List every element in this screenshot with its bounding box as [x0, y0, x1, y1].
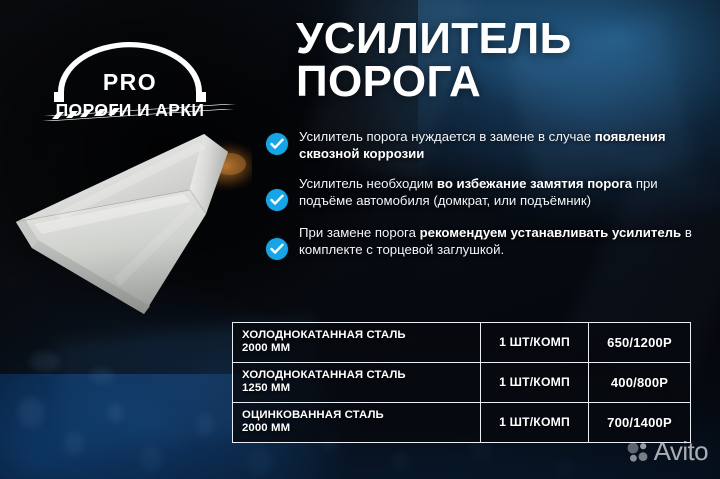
table-cell-material: ОЦИНКОВАННАЯ СТАЛЬ 2000 ММ	[233, 402, 481, 442]
material-name: ОЦИНКОВАННАЯ СТАЛЬ	[242, 409, 384, 421]
avito-watermark: Avito	[627, 436, 708, 467]
list-item: Усилитель необходим во избежание замятия…	[266, 175, 698, 211]
material-name: ХОЛОДНОКАТАННАЯ СТАЛЬ	[242, 329, 406, 341]
material-name: ХОЛОДНОКАТАННАЯ СТАЛЬ	[242, 369, 406, 381]
check-circle-icon	[266, 189, 288, 211]
table-cell-quantity: 1 ШТ/КОМП	[481, 323, 589, 363]
title-line-2: ПОРОГА	[296, 61, 696, 104]
list-item-text: При замене порога рекомендуем устанавлив…	[299, 224, 698, 258]
specs-table: ХОЛОДНОКАТАННАЯ СТАЛЬ 2000 ММ 1 ШТ/КОМП …	[232, 322, 691, 443]
check-circle-icon	[266, 238, 288, 260]
table-cell-quantity: 1 ШТ/КОМП	[481, 402, 589, 442]
product-image	[0, 118, 252, 323]
table-row: ОЦИНКОВАННАЯ СТАЛЬ 2000 ММ 1 ШТ/КОМП 700…	[233, 402, 691, 442]
table-cell-quantity: 1 ШТ/КОМП	[481, 362, 589, 402]
table-cell-material: ХОЛОДНОКАТАННАЯ СТАЛЬ 2000 ММ	[233, 323, 481, 363]
promo-banner: PRO ПОРОГИ И АРКИ УСИЛИТЕЛЬ ПОРОГА	[0, 0, 720, 479]
list-item: При замене порога рекомендуем устанавлив…	[266, 224, 698, 260]
bullet-1-part1: Усилитель порога нуждается в замене в сл…	[299, 129, 595, 144]
list-item-text: Усилитель необходим во избежание замятия…	[299, 175, 698, 209]
table-cell-material: ХОЛОДНОКАТАННАЯ СТАЛЬ 1250 ММ	[233, 362, 481, 402]
table-row: ХОЛОДНОКАТАННАЯ СТАЛЬ 2000 ММ 1 ШТ/КОМП …	[233, 323, 691, 363]
bullet-3-bold1: рекомендуем устанавливать усилитель	[420, 225, 682, 240]
bullet-2-part1: Усилитель необходим	[299, 176, 437, 191]
table-row: ХОЛОДНОКАТАННАЯ СТАЛЬ 1250 ММ 1 ШТ/КОМП …	[233, 362, 691, 402]
avito-label: Avito	[654, 436, 708, 467]
logo-pro-text: PRO	[103, 69, 157, 95]
logo-road-stripe	[40, 100, 240, 122]
material-size: 2000 ММ	[242, 422, 471, 435]
list-item: Усилитель порога нуждается в замене в сл…	[266, 128, 698, 162]
table-cell-price: 400/800Р	[589, 362, 691, 402]
material-size: 1250 ММ	[242, 382, 471, 395]
title-line-1: УСИЛИТЕЛЬ	[296, 14, 572, 63]
table-cell-price: 650/1200Р	[589, 323, 691, 363]
bullet-2-bold1: во избежание замятия порога	[437, 176, 632, 191]
avito-dots-icon	[627, 441, 649, 463]
list-item-text: Усилитель порога нуждается в замене в сл…	[299, 128, 698, 162]
material-size: 2000 ММ	[242, 342, 471, 355]
bullet-3-part1: При замене порога	[299, 225, 420, 240]
page-title: УСИЛИТЕЛЬ ПОРОГА	[296, 18, 696, 103]
check-circle-icon	[266, 133, 288, 155]
feature-list: Усилитель порога нуждается в замене в сл…	[266, 128, 698, 260]
